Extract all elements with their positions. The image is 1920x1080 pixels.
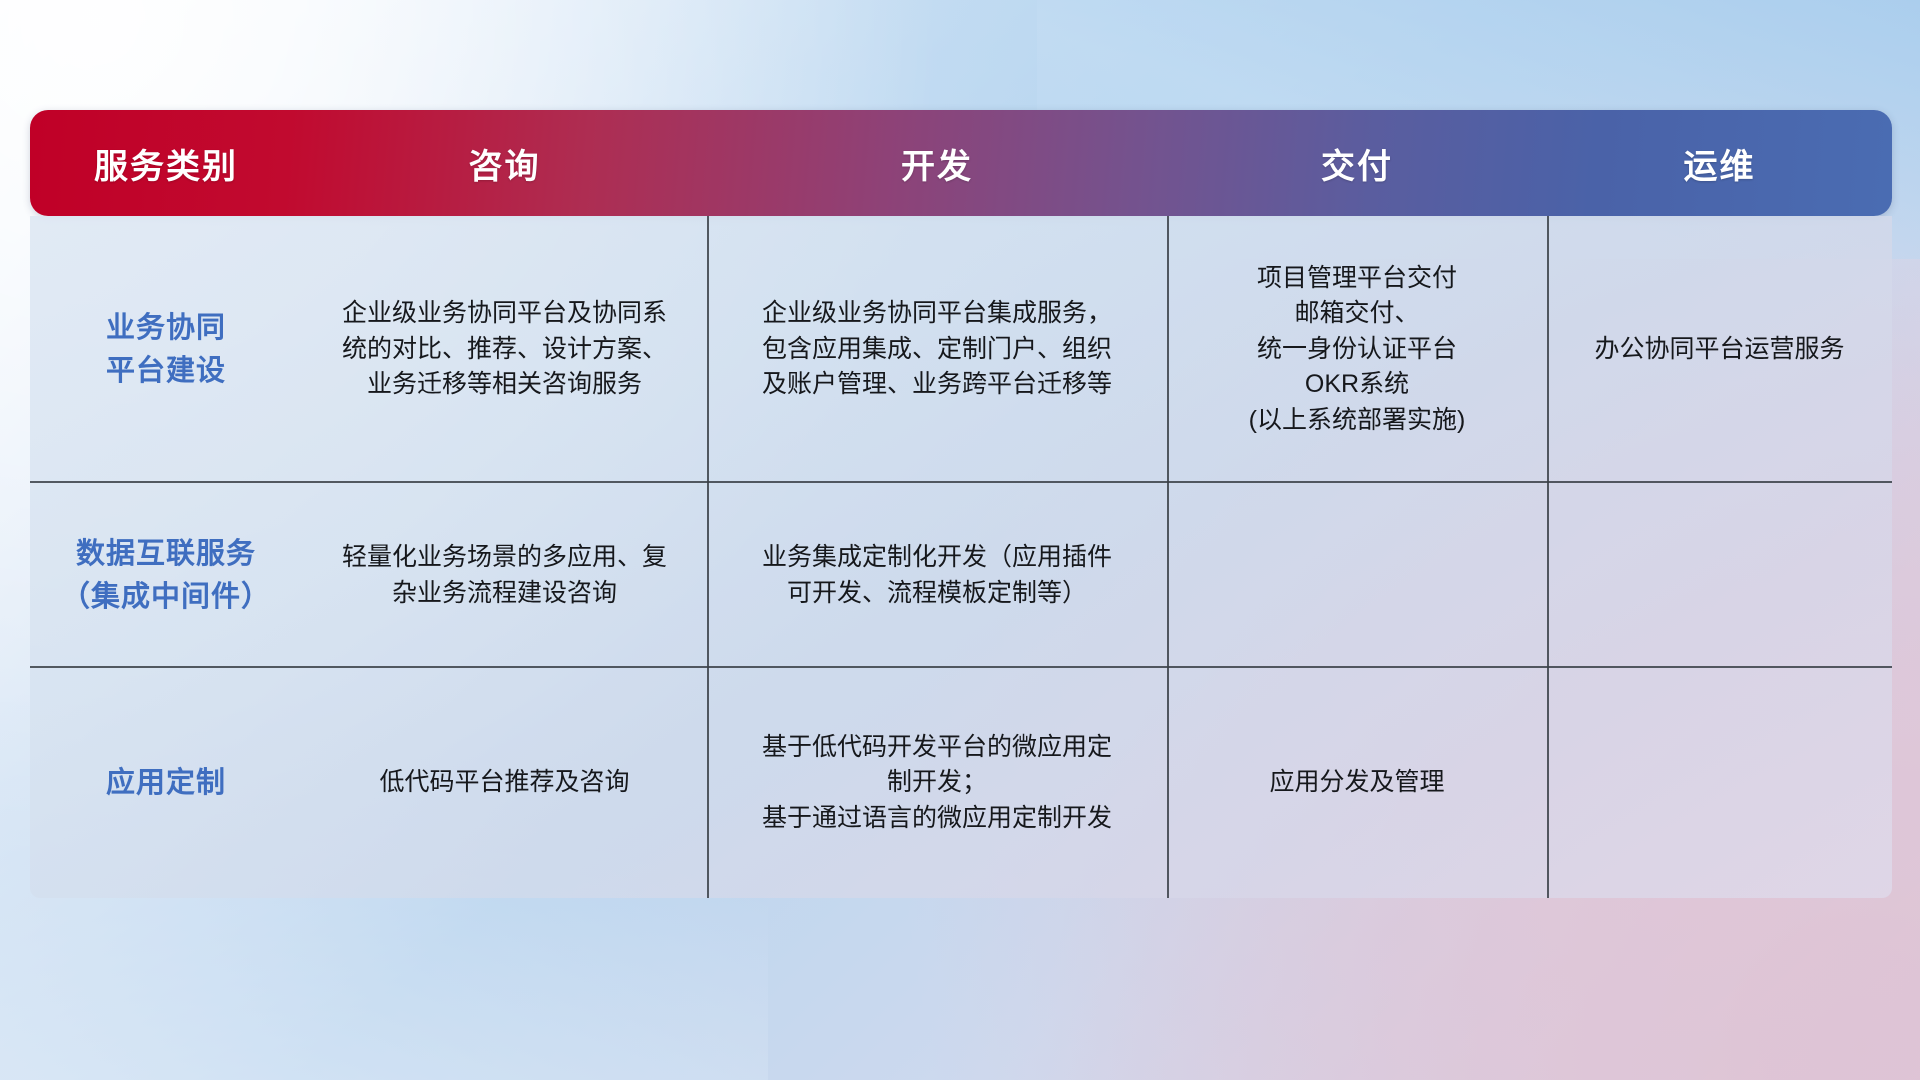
column-header-development: 开发	[707, 110, 1167, 216]
cell-delivery-row2	[1167, 483, 1547, 668]
table-row: 数据互联服务 （集成中间件） 轻量化业务场景的多应用、复 杂业务流程建设咨询 业…	[30, 483, 1892, 668]
table-row: 业务协同 平台建设 企业级业务协同平台及协同系 统的对比、推荐、设计方案、 业务…	[30, 216, 1892, 483]
column-header-delivery: 交付	[1167, 110, 1547, 216]
row-label-business-collaboration: 业务协同 平台建设	[30, 216, 302, 483]
cell-development-row2: 业务集成定制化开发（应用插件 可开发、流程模板定制等）	[707, 483, 1167, 668]
service-matrix-table: 服务类别 咨询 开发 交付 运维 业务协同 平台建设 企业级业务协同平台及协同系…	[30, 110, 1892, 782]
table-body: 业务协同 平台建设 企业级业务协同平台及协同系 统的对比、推荐、设计方案、 业务…	[30, 216, 1892, 898]
cell-operations-row3	[1547, 668, 1892, 898]
cell-operations-row2	[1547, 483, 1892, 668]
cell-development-row3: 基于低代码开发平台的微应用定 制开发； 基于通过语言的微应用定制开发	[707, 668, 1167, 898]
cell-consulting-row1: 企业级业务协同平台及协同系 统的对比、推荐、设计方案、 业务迁移等相关咨询服务	[302, 216, 707, 483]
row-label-application-customization: 应用定制	[30, 668, 302, 898]
cell-consulting-row3: 低代码平台推荐及咨询	[302, 668, 707, 898]
column-header-consulting: 咨询	[302, 110, 707, 216]
cell-development-row1: 企业级业务协同平台集成服务， 包含应用集成、定制门户、组织 及账户管理、业务跨平…	[707, 216, 1167, 483]
column-header-operations: 运维	[1547, 110, 1892, 216]
cell-consulting-row2: 轻量化业务场景的多应用、复 杂业务流程建设咨询	[302, 483, 707, 668]
cell-operations-row1: 办公协同平台运营服务	[1547, 216, 1892, 483]
column-header-category: 服务类别	[30, 110, 302, 216]
cell-delivery-row1: 项目管理平台交付 邮箱交付、 统一身份认证平台 OKR系统 (以上系统部署实施)	[1167, 216, 1547, 483]
row-label-data-interconnect: 数据互联服务 （集成中间件）	[30, 483, 302, 668]
table-header-row: 服务类别 咨询 开发 交付 运维	[30, 110, 1892, 216]
table-row: 应用定制 低代码平台推荐及咨询 基于低代码开发平台的微应用定 制开发； 基于通过…	[30, 668, 1892, 898]
cell-delivery-row3: 应用分发及管理	[1167, 668, 1547, 898]
